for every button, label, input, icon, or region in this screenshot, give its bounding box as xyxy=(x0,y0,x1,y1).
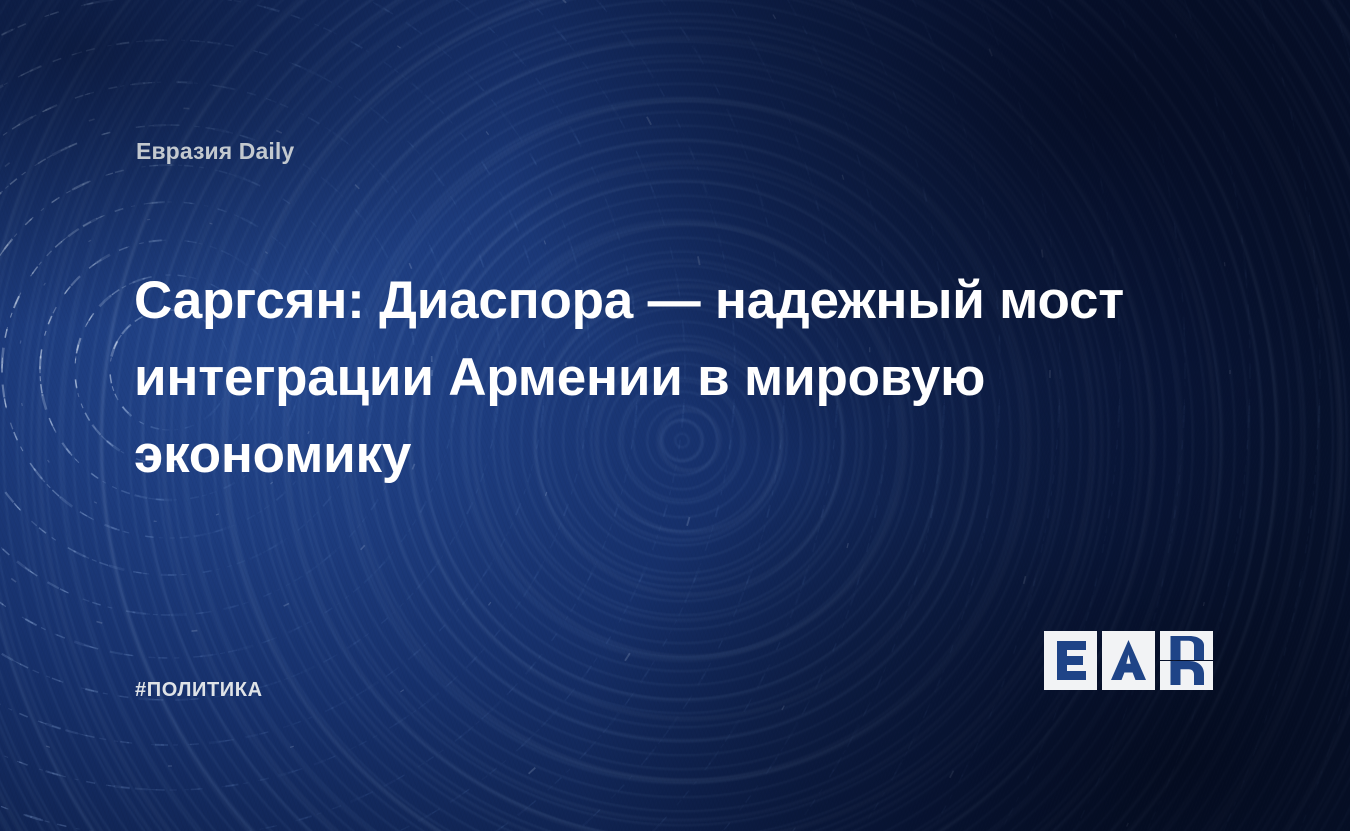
logo-tile-a xyxy=(1102,631,1155,690)
category-tag[interactable]: #ПОЛИТИКА xyxy=(135,679,263,702)
logo-tile-d-bottom-half xyxy=(1160,661,1213,690)
news-card: Евразия Daily Саргсян: Диаспора — надежн… xyxy=(0,0,1350,831)
logo-tile-e xyxy=(1044,631,1097,690)
card-content: Евразия Daily Саргсян: Диаспора — надежн… xyxy=(0,0,1350,831)
logo-tile-d xyxy=(1160,631,1213,690)
logo-tile-d-top-half xyxy=(1160,631,1213,660)
ead-logo[interactable] xyxy=(1044,631,1213,690)
page-title: Саргсян: Диаспора — надежный мост интегр… xyxy=(134,262,1154,493)
source-label: Евразия Daily xyxy=(136,138,294,165)
